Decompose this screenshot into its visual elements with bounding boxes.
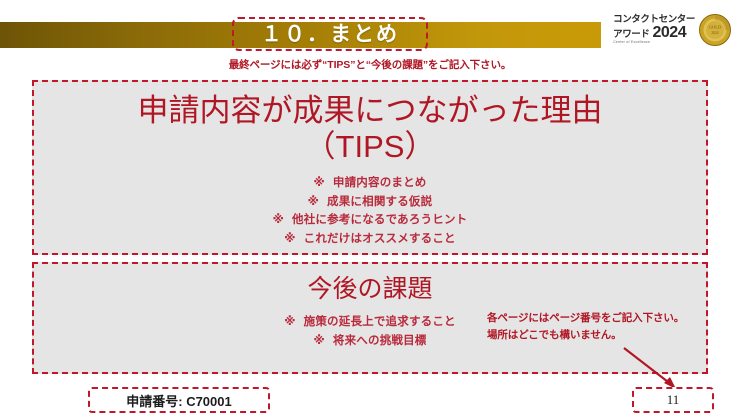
list-item-label: 成果に相関する仮説 [327, 196, 432, 208]
list-item-label: これだけはオススメすること [304, 233, 456, 245]
page-number-note-line2: 場所はどこでも構いません。 [487, 327, 684, 344]
tips-heading: 申請内容が成果につながった理由 （TIPS） [34, 93, 706, 165]
tips-panel: 申請内容が成果につながった理由 （TIPS） ※申請内容のまとめ ※成果に相関す… [32, 80, 708, 255]
gold-medal-icon: GOLD 2024 [698, 13, 732, 47]
list-item-label: 申請内容のまとめ [333, 177, 427, 189]
tips-heading-line2: （TIPS） [34, 129, 706, 165]
svg-text:GOLD: GOLD [709, 25, 722, 30]
page-number-label: 11 [667, 392, 680, 408]
bullet-mark-icon: ※ [284, 316, 295, 328]
list-item-label: 他社に参考になるであろうヒント [292, 214, 467, 226]
bullet-mark-icon: ※ [308, 196, 319, 208]
list-item: ※他社に参考になるであろうヒント [34, 211, 706, 230]
diagonal-arrow-icon [620, 345, 690, 393]
award-logo-row2: アワード 2024 [613, 25, 686, 41]
award-logo: コンタクトセンター アワード 2024 Center of Excellence… [606, 10, 732, 50]
award-logo-text: コンタクトセンター アワード 2024 Center of Excellence [613, 15, 695, 45]
tips-heading-line1: 申請内容が成果につながった理由 [34, 93, 706, 129]
application-number-label: 申請番号: C70001 [126, 391, 231, 410]
page-number-note: 各ページにはページ番号をご記入下さい。 場所はどこでも構いません。 [487, 310, 684, 345]
future-issues-heading: 今後の課題 [34, 275, 706, 304]
slide-title: １０．まとめ [261, 24, 399, 45]
award-logo-subtext: Center of Excellence [613, 41, 650, 45]
list-item: ※これだけはオススメすること [34, 230, 706, 249]
list-item: ※成果に相関する仮説 [34, 193, 706, 212]
bullet-mark-icon: ※ [273, 214, 284, 226]
slide-title-chip: １０．まとめ [232, 17, 428, 51]
tips-bullet-list: ※申請内容のまとめ ※成果に相関する仮説 ※他社に参考になるであろうヒント ※こ… [34, 174, 706, 249]
list-item-label: 将来への挑戦目標 [333, 335, 427, 347]
svg-text:2024: 2024 [711, 31, 718, 35]
list-item: ※申請内容のまとめ [34, 174, 706, 193]
bullet-mark-icon: ※ [284, 233, 295, 245]
bullet-mark-icon: ※ [314, 335, 325, 347]
instruction-text: 最終ページには必ず“TIPS”と“今後の課題”をご記入下さい。 [0, 57, 740, 72]
list-item-label: 施策の延長上で追求すること [304, 316, 456, 328]
application-number-box: 申請番号: C70001 [88, 387, 270, 413]
bullet-mark-icon: ※ [314, 177, 325, 189]
page-number-box: 11 [632, 387, 714, 413]
award-logo-line2: アワード [613, 30, 649, 40]
page-number-note-line1: 各ページにはページ番号をご記入下さい。 [487, 310, 684, 327]
award-logo-year: 2024 [653, 25, 687, 41]
